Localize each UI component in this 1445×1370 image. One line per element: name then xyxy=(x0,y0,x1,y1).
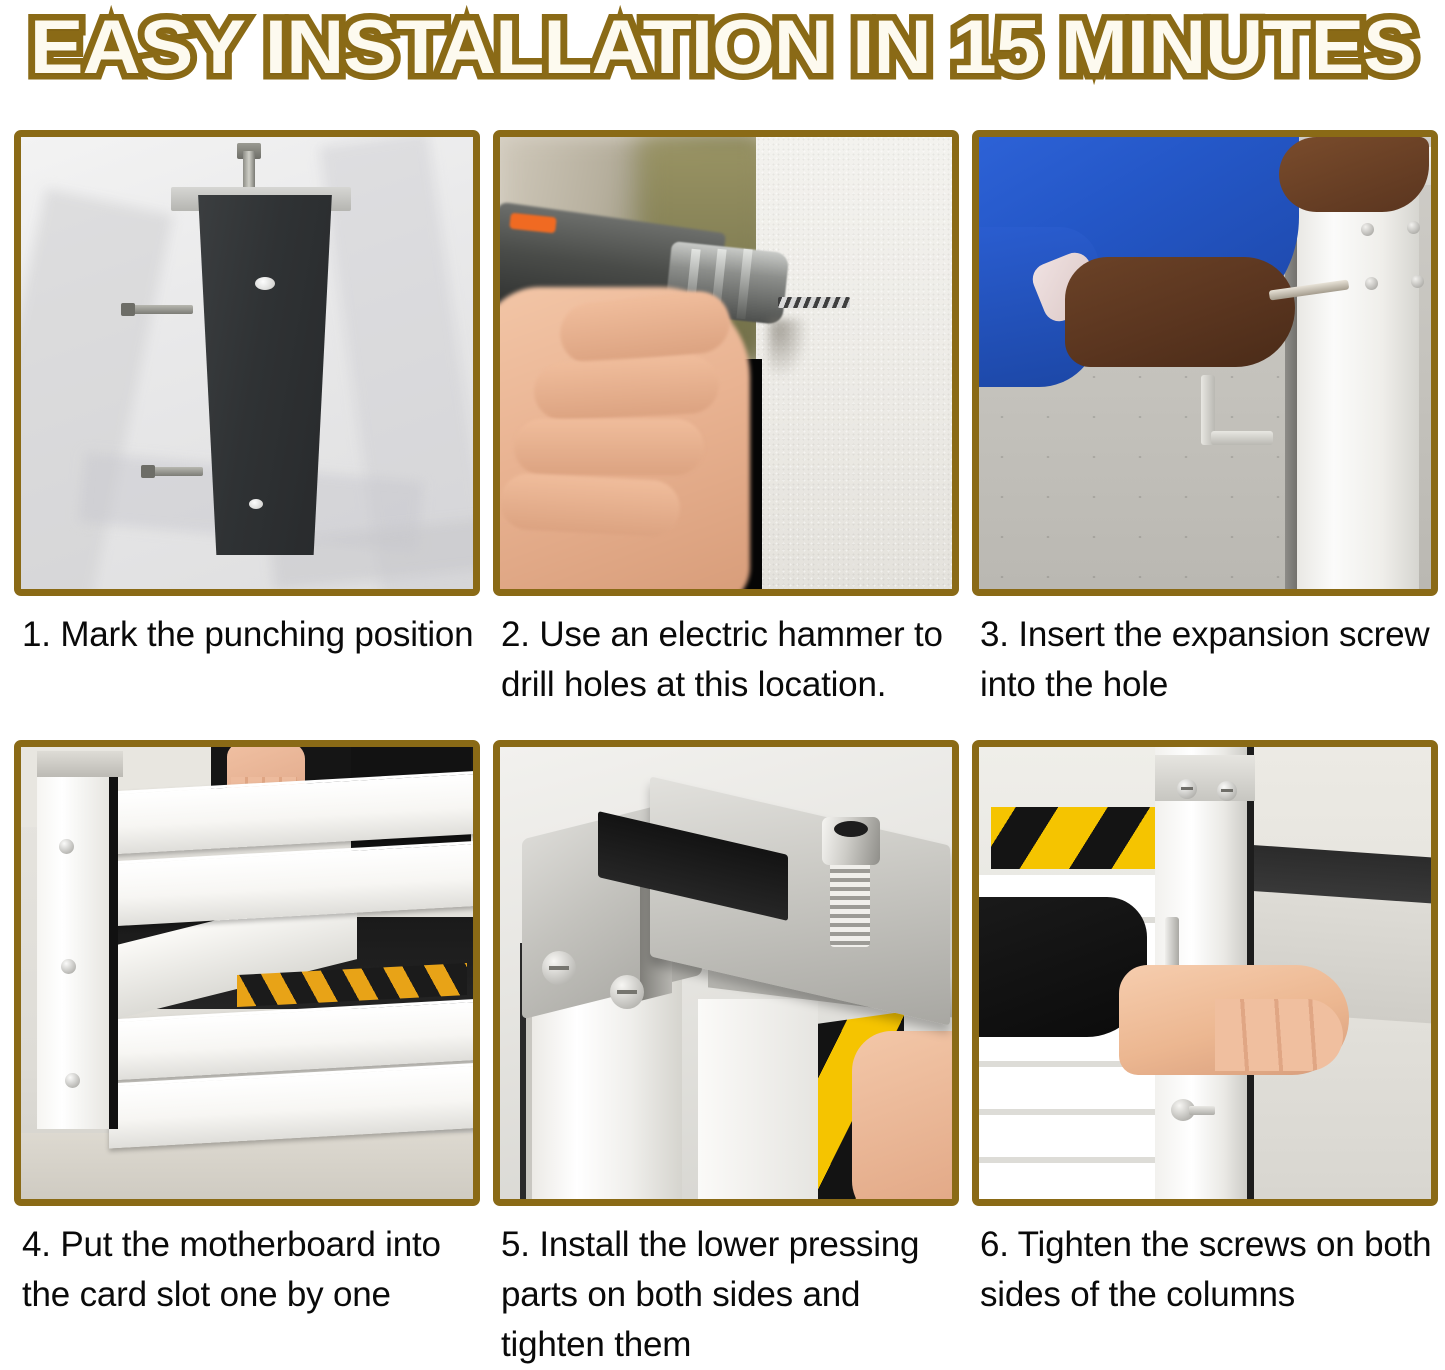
screw xyxy=(59,839,74,854)
step-card-6: 6. Tighten the screws on both sides of t… xyxy=(972,740,1438,1370)
hand xyxy=(1065,257,1295,367)
step-photo-1 xyxy=(21,137,473,589)
step-photo-6 xyxy=(979,747,1431,1199)
step-photo-frame-5 xyxy=(493,740,959,1206)
step-photo-frame-1 xyxy=(14,130,480,596)
side-bolt xyxy=(151,467,203,476)
step-caption-1: 1. Mark the punching position xyxy=(14,610,480,660)
mounting-hole xyxy=(249,499,263,509)
aluminium-post xyxy=(37,751,118,1129)
drill-bit xyxy=(778,297,850,308)
step-caption-4: 4. Put the motherboard into the card slo… xyxy=(14,1220,480,1320)
screw xyxy=(1407,221,1420,234)
step-caption-2: 2. Use an electric hammer to drill holes… xyxy=(493,610,959,710)
step-card-3: 3. Insert the expansion screw into the h… xyxy=(972,130,1438,710)
finger xyxy=(514,419,704,475)
hand xyxy=(852,1031,952,1199)
step-caption-6: 6. Tighten the screws on both sides of t… xyxy=(972,1220,1438,1320)
step-photo-3 xyxy=(979,137,1431,589)
step-photo-frame-4 xyxy=(14,740,480,1206)
post-cap xyxy=(37,751,123,777)
steps-grid: 1. Mark the punching position xyxy=(0,130,1445,1370)
screw xyxy=(1365,277,1378,290)
step-caption-5: 5. Install the lower pressing parts on b… xyxy=(493,1220,959,1370)
hand xyxy=(1279,137,1429,212)
step-card-2: 2. Use an electric hammer to drill holes… xyxy=(493,130,959,710)
screw xyxy=(1361,223,1374,236)
barrier-board xyxy=(698,999,818,1199)
bolt-head xyxy=(822,817,880,865)
screw xyxy=(610,975,644,1009)
hand xyxy=(1119,965,1349,1075)
step-photo-frame-6 xyxy=(972,740,1438,1206)
step-photo-2 xyxy=(500,137,952,589)
step-photo-frame-3 xyxy=(972,130,1438,596)
screw xyxy=(1171,1099,1195,1121)
bolt-shaft xyxy=(830,855,870,947)
header-banner: EASY INSTALLATION IN 15 MINUTES xyxy=(0,0,1445,96)
screw xyxy=(542,951,576,985)
pressing-plate xyxy=(650,776,950,1025)
cloth-fold xyxy=(21,188,173,589)
step-caption-3: 3. Insert the expansion screw into the h… xyxy=(972,610,1438,710)
page-title: EASY INSTALLATION IN 15 MINUTES xyxy=(29,10,1415,86)
screw xyxy=(61,959,76,974)
step-photo-5 xyxy=(500,747,952,1199)
screw xyxy=(1177,779,1197,799)
step-card-1: 1. Mark the punching position xyxy=(14,130,480,710)
floor xyxy=(21,1133,473,1199)
mounting-hole xyxy=(255,277,275,290)
step-card-5: 5. Install the lower pressing parts on b… xyxy=(493,740,959,1370)
hazard-stripe xyxy=(991,807,1161,869)
hex-key xyxy=(1201,375,1215,445)
step-card-4: 4. Put the motherboard into the card slo… xyxy=(14,740,480,1370)
screw xyxy=(1411,275,1424,288)
screw xyxy=(1217,781,1237,801)
column-cap xyxy=(1155,755,1255,801)
finger xyxy=(533,354,721,422)
finger xyxy=(500,472,681,537)
screw xyxy=(65,1073,80,1088)
side-bolt xyxy=(131,305,193,314)
steps-row-bottom: 4. Put the motherboard into the card slo… xyxy=(8,740,1437,1370)
barrier-board xyxy=(109,841,473,927)
step-photo-4 xyxy=(21,747,473,1199)
drill-dust xyxy=(768,319,808,379)
aluminium-column xyxy=(1297,159,1419,589)
steps-row-top: 1. Mark the punching position xyxy=(8,130,1437,710)
step-photo-frame-2 xyxy=(493,130,959,596)
